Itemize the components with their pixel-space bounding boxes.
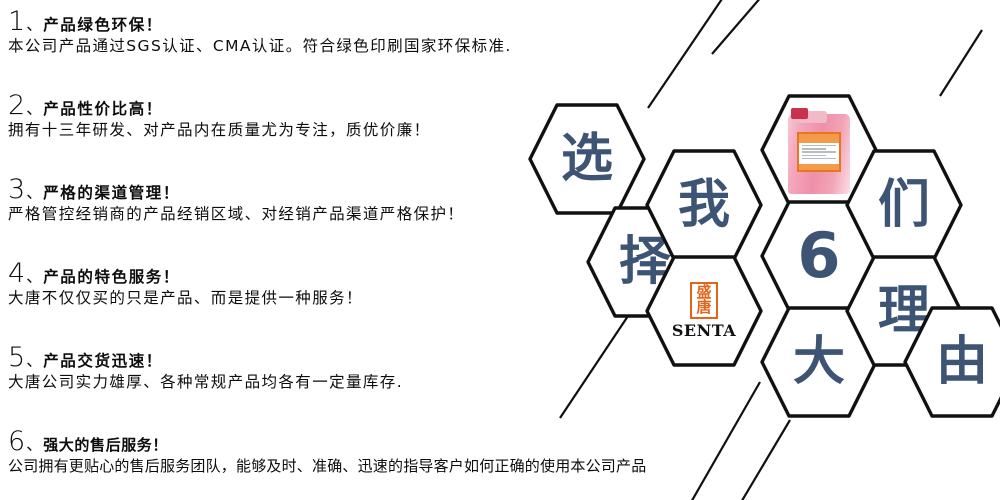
reasons-list: 1 、 产品绿色环保！ 本公司产品通过SGS认证、CMA认证。符合绿色印刷国家环… bbox=[0, 0, 1000, 500]
reason-body: 大唐公司实力雄厚、各种常规产品均各有一定量库存. bbox=[8, 374, 403, 392]
reason-body: 严格管控经销商的产品经销区域、对经销产品渠道严格保护！ bbox=[8, 206, 464, 224]
reason-separator: 、 bbox=[26, 185, 42, 201]
reason-number: 6 bbox=[8, 428, 25, 455]
reason-heading: 6 、 强大的售后服务！ bbox=[8, 428, 646, 455]
reason-separator: 、 bbox=[26, 269, 42, 285]
reason-title: 严格的渠道管理！ bbox=[43, 186, 180, 202]
reason-title: 产品性价比高！ bbox=[43, 102, 163, 118]
reason-body: 本公司产品通过SGS认证、CMA认证。符合绿色印刷国家环保标准. bbox=[8, 38, 512, 56]
reason-body: 大唐不仅仅买的只是产品、而是提供一种服务！ bbox=[8, 290, 363, 308]
reason-separator: 、 bbox=[26, 437, 42, 453]
reason-heading: 2 、 产品性价比高！ bbox=[8, 92, 431, 119]
reason-heading: 4 、 产品的特色服务！ bbox=[8, 260, 363, 287]
reason-title: 产品绿色环保！ bbox=[43, 18, 163, 34]
reason-item-1: 1 、 产品绿色环保！ 本公司产品通过SGS认证、CMA认证。符合绿色印刷国家环… bbox=[8, 8, 512, 56]
reason-heading: 3 、 严格的渠道管理！ bbox=[8, 176, 464, 203]
reason-body: 拥有十三年研发、对产品内在质量尤为专注，质优价廉！ bbox=[8, 122, 431, 140]
reason-number: 2 bbox=[8, 92, 25, 119]
reason-item-3: 3 、 严格的渠道管理！ 严格管控经销商的产品经销区域、对经销产品渠道严格保护！ bbox=[8, 176, 464, 224]
reason-separator: 、 bbox=[26, 17, 42, 33]
reason-title: 产品交货迅速！ bbox=[43, 354, 163, 370]
reason-number: 5 bbox=[8, 344, 25, 371]
reason-title: 产品的特色服务！ bbox=[43, 270, 180, 286]
reason-body: 公司拥有更贴心的售后服务团队，能够及时、准确、迅速的指导客户如何正确的使用本公司… bbox=[8, 458, 646, 475]
reason-item-4: 4 、 产品的特色服务！ 大唐不仅仅买的只是产品、而是提供一种服务！ bbox=[8, 260, 363, 308]
reason-heading: 1 、 产品绿色环保！ bbox=[8, 8, 512, 35]
reason-item-6: 6 、 强大的售后服务！ 公司拥有更贴心的售后服务团队，能够及时、准确、迅速的指… bbox=[8, 428, 646, 475]
reason-number: 1 bbox=[8, 8, 25, 35]
reason-number: 3 bbox=[8, 176, 25, 203]
reason-separator: 、 bbox=[26, 101, 42, 117]
reason-heading: 5 、 产品交货迅速！ bbox=[8, 344, 403, 371]
reason-title: 强大的售后服务！ bbox=[43, 438, 168, 453]
reason-separator: 、 bbox=[26, 353, 42, 369]
reason-item-5: 5 、 产品交货迅速！ 大唐公司实力雄厚、各种常规产品均各有一定量库存. bbox=[8, 344, 403, 392]
reason-item-2: 2 、 产品性价比高！ 拥有十三年研发、对产品内在质量尤为专注，质优价廉！ bbox=[8, 92, 431, 140]
reason-number: 4 bbox=[8, 260, 25, 287]
promo-banner: 选 择 我 盛 唐 SENTA bbox=[0, 0, 1000, 500]
